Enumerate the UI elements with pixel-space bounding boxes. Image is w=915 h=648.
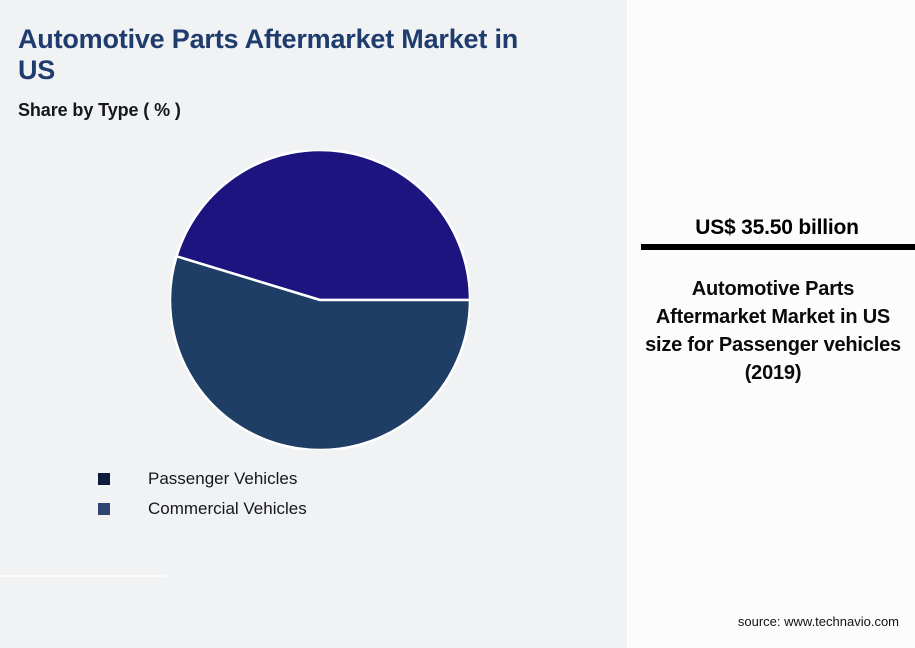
page-title: Automotive Parts Aftermarket Market in U… (18, 24, 538, 86)
source-note: source: www.technavio.com (629, 614, 899, 629)
pie-chart-svg (170, 150, 470, 450)
kpi-divider (641, 244, 915, 250)
legend-item-commercial-vehicles[interactable]: Commercial Vehicles (98, 494, 518, 524)
footer-divider (0, 575, 165, 577)
legend-swatch-icon (98, 473, 110, 485)
kpi-value: US$ 35.50 billion (641, 216, 913, 240)
legend-swatch-icon (98, 503, 110, 515)
chart-panel: Automotive Parts Aftermarket Market in U… (0, 0, 627, 648)
pie-chart (170, 150, 470, 450)
legend-item-label: Commercial Vehicles (148, 499, 307, 519)
legend-item-label: Passenger Vehicles (148, 469, 297, 489)
legend-item-passenger-vehicles[interactable]: Passenger Vehicles (98, 464, 518, 494)
chart-subtitle: Share by Type ( % ) (18, 100, 181, 121)
kpi-panel: US$ 35.50 billion Automotive Parts After… (627, 0, 915, 648)
kpi-description: Automotive Parts Aftermarket Market in U… (639, 275, 907, 387)
chart-legend: Passenger Vehicles Commercial Vehicles (98, 464, 518, 524)
